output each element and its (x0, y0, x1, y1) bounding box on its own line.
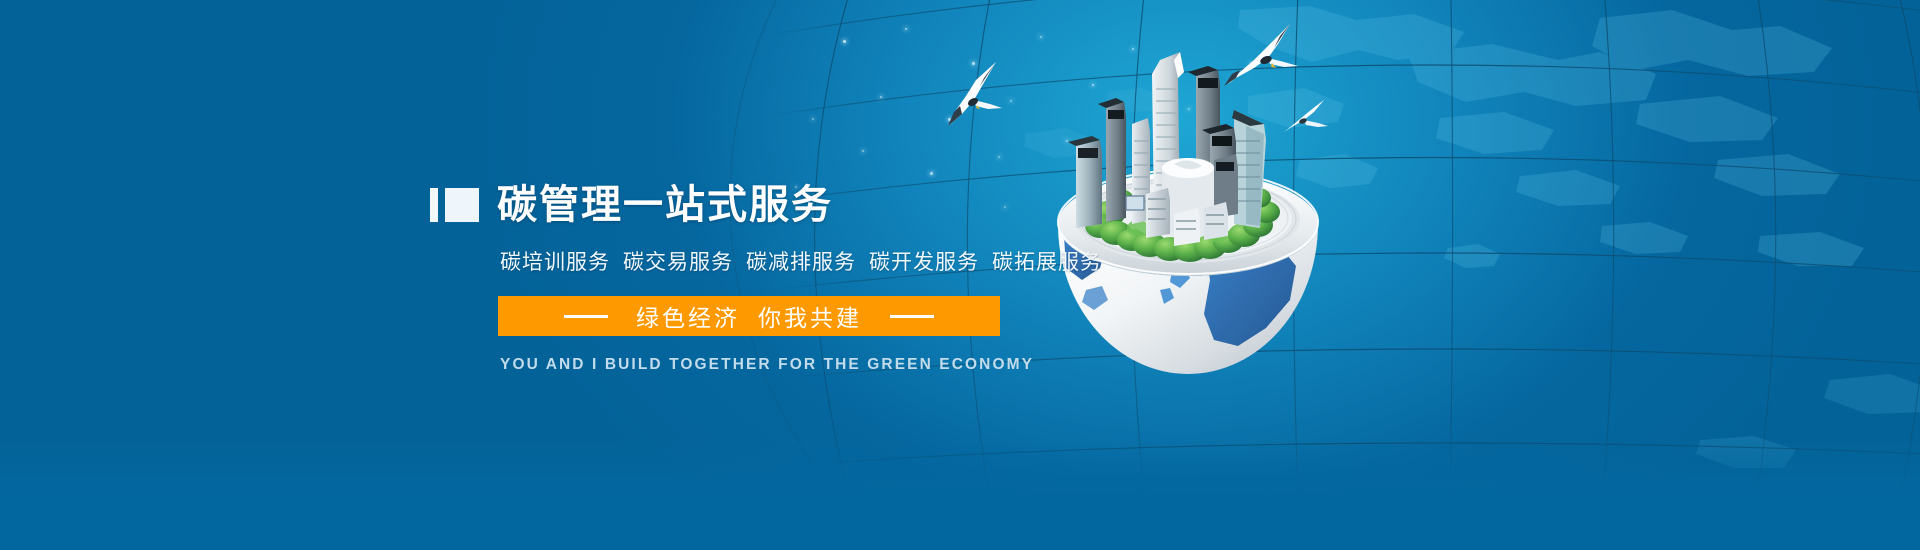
cta-text-part-1: 绿色经济 (636, 305, 740, 331)
service-list: 碳培训服务碳交易服务碳减排服务碳开发服务碳拓展服务 (500, 246, 1050, 276)
banner-content: 碳管理一站式服务 碳培训服务碳交易服务碳减排服务碳开发服务碳拓展服务 绿色经济你… (430, 180, 1050, 374)
background-bottom-fade (0, 440, 1920, 550)
bar-square-mark-icon (430, 188, 479, 222)
promo-banner: 碳管理一站式服务 碳培训服务碳交易服务碳减排服务碳开发服务碳拓展服务 绿色经济你… (0, 0, 1920, 550)
service-item-2[interactable]: 碳减排服务 (746, 251, 856, 274)
service-item-3[interactable]: 碳开发服务 (869, 251, 979, 274)
cta-dash-left-icon (564, 315, 608, 318)
service-item-1[interactable]: 碳交易服务 (623, 251, 733, 274)
cta-dash-right-icon (890, 315, 934, 318)
cta-label: 绿色经济你我共建 (636, 299, 862, 333)
cta-text-part-2: 你我共建 (758, 305, 862, 331)
service-item-0[interactable]: 碳培训服务 (500, 251, 610, 274)
page-title: 碳管理一站式服务 (497, 185, 833, 225)
english-tagline: YOU AND I BUILD TOGETHER FOR THE GREEN E… (500, 356, 1050, 374)
cta-banner-bar[interactable]: 绿色经济你我共建 (498, 296, 1000, 336)
headline-row: 碳管理一站式服务 (430, 180, 1050, 230)
service-item-4[interactable]: 碳拓展服务 (992, 251, 1102, 274)
seagull-icon-left (932, 56, 1010, 130)
globe-city-artwork (1028, 28, 1348, 380)
city-skyline-buildings-icon (1068, 52, 1266, 246)
